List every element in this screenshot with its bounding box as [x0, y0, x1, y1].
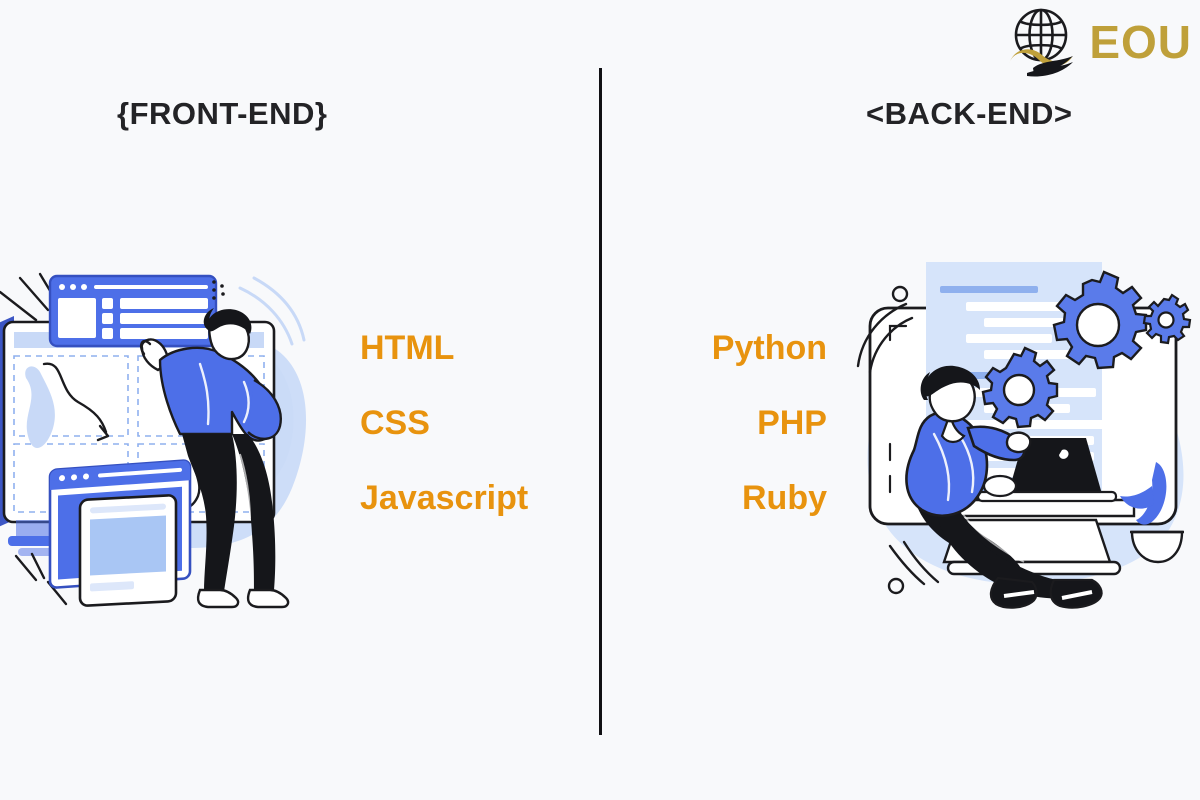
tech-item[interactable]: Python: [712, 331, 827, 365]
tech-item[interactable]: Ruby: [712, 481, 827, 515]
page-root: EOU {FRONT-END} <BACK-END>: [0, 0, 1200, 800]
vertical-divider: [599, 68, 602, 735]
brand-logo[interactable]: EOU: [1003, 6, 1192, 78]
back-end-developer-illustration: [848, 248, 1200, 616]
back-end-heading: <BACK-END>: [866, 96, 1073, 132]
front-end-technology-list: HTML CSS Javascript: [360, 331, 528, 556]
front-end-heading: {FRONT-END}: [117, 96, 327, 132]
front-end-developer-illustration: [0, 248, 342, 613]
back-end-technology-list: Python PHP Ruby: [712, 331, 827, 556]
brand-name: EOU: [1089, 19, 1192, 65]
tech-item[interactable]: Javascript: [360, 481, 528, 515]
tech-item[interactable]: HTML: [360, 331, 528, 365]
tech-item[interactable]: CSS: [360, 406, 528, 440]
tech-item[interactable]: PHP: [712, 406, 827, 440]
globe-infinity-icon: [1003, 6, 1079, 78]
